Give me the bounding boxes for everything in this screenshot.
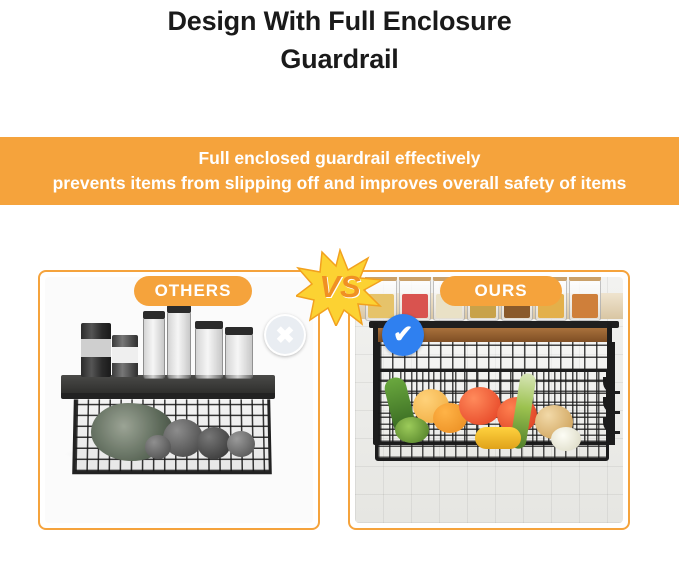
page-title-line-1: Design With Full Enclosure [167, 6, 511, 36]
others-vegetable-4 [145, 435, 171, 459]
ours-wood-shelf [377, 328, 609, 342]
page-title-line-2: Guardrail [0, 40, 679, 78]
others-product-image [45, 277, 313, 523]
page-title: Design With Full Enclosure Guardrail [0, 0, 679, 78]
others-can-2 [112, 335, 138, 377]
others-jar-2 [167, 311, 191, 379]
others-can-1 [81, 323, 111, 377]
others-jar-4 [225, 333, 253, 379]
ours-jar-3 [433, 279, 465, 321]
others-vegetable-2 [197, 427, 231, 459]
others-jar-1 [143, 317, 165, 379]
others-vegetable-3 [227, 431, 255, 457]
others-jar-3 [195, 327, 223, 379]
ours-green-vegetable [395, 417, 429, 443]
ours-product-image [355, 277, 623, 523]
ours-jar-6 [535, 279, 567, 321]
ours-jar-5 [501, 279, 533, 321]
others-photo [45, 277, 313, 523]
ours-tomato-1 [459, 387, 501, 425]
ours-garlic [551, 427, 581, 451]
comparison-panel-others [38, 270, 320, 530]
ours-jar-7 [569, 279, 601, 321]
comparison-panel-ours [348, 270, 630, 530]
ours-jar-4 [467, 279, 499, 321]
comparison-section: OTHERS OURS VS ✖ ✔ [0, 232, 679, 582]
ours-mounting-bar [369, 321, 619, 328]
banner-line-1: Full enclosed guardrail effectively [198, 146, 480, 171]
ours-jar-1 [365, 279, 397, 321]
ours-jar-2 [399, 279, 431, 321]
feature-banner: Full enclosed guardrail effectively prev… [0, 137, 679, 205]
ours-photo [355, 277, 623, 523]
ours-pepper [475, 427, 521, 449]
ours-storage-jars [361, 277, 623, 321]
banner-line-2: prevents items from slipping off and imp… [53, 171, 627, 196]
others-shelf-edge [61, 393, 275, 399]
